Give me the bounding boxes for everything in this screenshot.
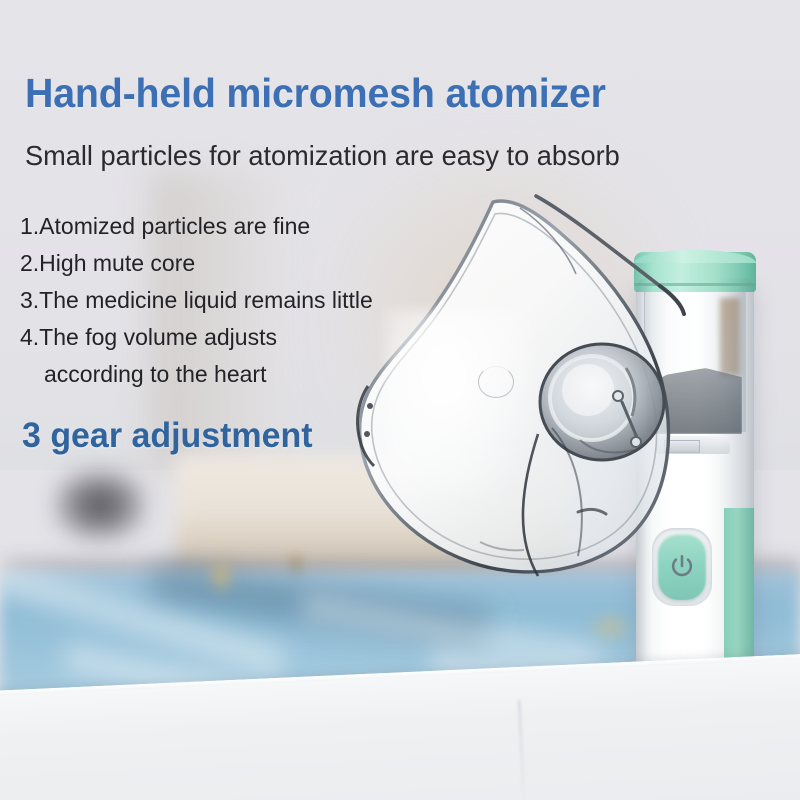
page-title: Hand-held micromesh atomizer — [25, 70, 606, 117]
face-mask-shape — [330, 190, 700, 580]
mask-connector — [540, 344, 664, 460]
feature-list: 1.Atomized particles are fine 2.High mut… — [20, 208, 373, 393]
list-item: 3.The medicine liquid remains little — [20, 282, 373, 319]
device-chamber-reflection — [720, 298, 740, 376]
face-mask — [330, 190, 700, 580]
list-item-continuation: according to the heart — [20, 356, 373, 393]
background-dark-object — [55, 470, 145, 540]
tagline: 3 gear adjustment — [22, 416, 313, 456]
list-item: 4.The fog volume adjusts — [20, 319, 373, 356]
background-accent-spot — [590, 614, 630, 640]
list-item: 1.Atomized particles are fine — [20, 208, 373, 245]
product-poster: Hand-held micromesh atomizer Small parti… — [0, 0, 800, 800]
page-subtitle: Small particles for atomization are easy… — [25, 140, 620, 172]
background-accent-spot — [208, 558, 234, 594]
list-item: 2.High mute core — [20, 245, 373, 282]
